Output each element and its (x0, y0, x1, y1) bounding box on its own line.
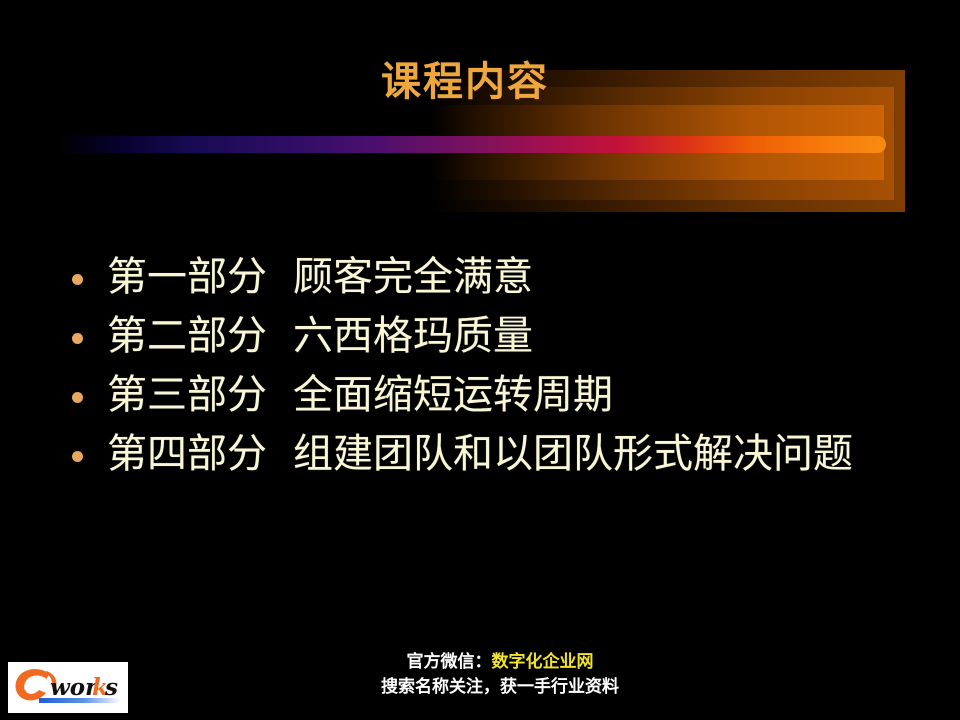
bullet-dot-icon (72, 274, 83, 285)
list-item-topic: 六西格玛质量 (293, 313, 533, 359)
footer-line-1: 官方微信：数字化企业网 (140, 650, 860, 675)
list-item: 第四部分组建团队和以团队形式解决问题 (72, 425, 892, 484)
eworks-logo-graphic: wor k s (8, 662, 128, 713)
list-item-text: 第二部分六西格玛质量 (107, 307, 892, 366)
list-item: 第三部分全面缩短运转周期 (72, 366, 892, 425)
logo-e-bowl (16, 669, 49, 700)
list-item-text: 第三部分全面缩短运转周期 (107, 366, 892, 425)
list-item-part: 第一部分 (107, 254, 267, 300)
list-item: 第一部分顾客完全满意 (72, 248, 892, 307)
logo-e-crossbar-cut (25, 686, 44, 691)
list-item-topic: 组建团队和以团队形式解决问题 (293, 431, 853, 477)
bullet-dot-icon (72, 451, 83, 462)
list-item-topic: 顾客完全满意 (293, 254, 533, 300)
logo-wordmark: wor k s (50, 674, 118, 701)
footer-watermark: 官方微信：数字化企业网 搜索名称关注，获一手行业资料 (140, 650, 860, 700)
content-bullet-list: 第一部分顾客完全满意 第二部分六西格玛质量 第三部分全面缩短运转周期 第四部分组… (72, 248, 892, 484)
footer-brand: 数字化企业网 (492, 652, 594, 672)
list-item-text: 第四部分组建团队和以团队形式解决问题 (107, 425, 892, 484)
eworks-logo: wor k s (8, 662, 128, 713)
list-item-part: 第三部分 (107, 372, 267, 418)
slide-title: 课程内容 (0, 58, 930, 106)
footer-prefix: 官方微信： (407, 652, 492, 672)
logo-underline-bar (39, 698, 121, 703)
bullet-dot-icon (72, 333, 83, 344)
footer-line-2: 搜索名称关注，获一手行业资料 (140, 675, 860, 700)
list-item: 第二部分六西格玛质量 (72, 307, 892, 366)
title-divider-bar (56, 136, 886, 153)
list-item-part: 第二部分 (107, 313, 267, 359)
slide-canvas: 课程内容 第一部分顾客完全满意 第二部分六西格玛质量 第三部分全面缩短运转周期 (0, 0, 960, 720)
logo-word-s: s (104, 674, 118, 701)
list-item-text: 第一部分顾客完全满意 (107, 248, 892, 307)
list-item-topic: 全面缩短运转周期 (293, 372, 613, 418)
bullet-dot-icon (72, 392, 83, 403)
list-item-part: 第四部分 (107, 431, 267, 477)
header-decoration (0, 0, 960, 240)
